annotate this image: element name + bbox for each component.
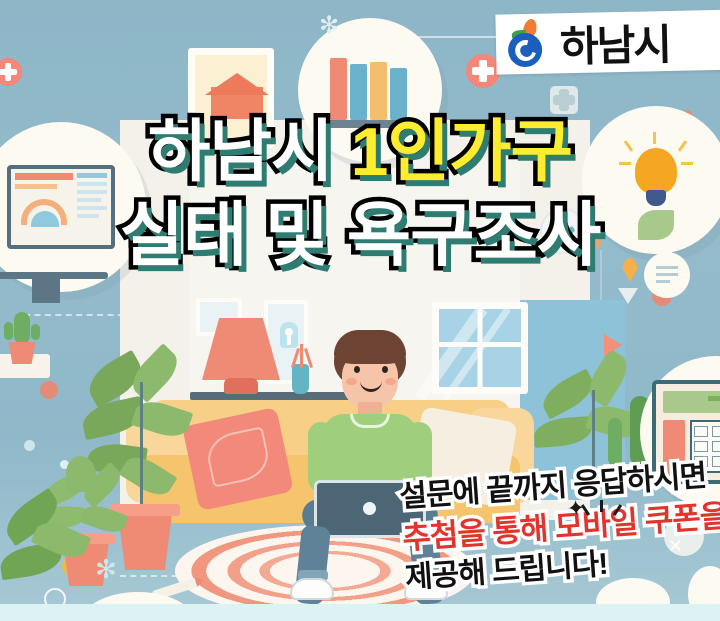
puzzle-icon bbox=[550, 86, 578, 114]
laptop-icon-bubble bbox=[0, 122, 146, 292]
medical-cross-icon bbox=[466, 54, 500, 88]
snowflake-icon-2: ✻ bbox=[316, 14, 342, 40]
bottom-strip bbox=[0, 604, 720, 621]
document-lines-icon bbox=[644, 252, 690, 298]
eye-left bbox=[354, 366, 360, 373]
arrow-icon bbox=[604, 334, 622, 356]
calculator-icon-bubble bbox=[640, 356, 720, 508]
burst-lines-icon bbox=[580, 500, 630, 522]
shoe-right bbox=[404, 578, 448, 600]
survey-poster: ✻ ✻ ✕ 하남시1인가구 실태 및 욕구조사 설문에 끝까지 응답하시면 추첨… bbox=[0, 0, 720, 621]
window bbox=[432, 302, 528, 394]
calculator-icon bbox=[652, 380, 720, 484]
cheek-right bbox=[385, 378, 396, 385]
snowflake-icon: ✻ bbox=[92, 556, 120, 584]
heart-badge-icon bbox=[540, 208, 586, 254]
laptop-monitor-icon bbox=[7, 165, 115, 249]
picture-frame-house bbox=[188, 48, 274, 148]
cactus-plant bbox=[2, 312, 42, 356]
hanam-city-logo: 하남시 bbox=[495, 9, 720, 74]
sparkle-x-icon: ✕ bbox=[668, 536, 683, 557]
hanam-city-emblem-icon bbox=[506, 20, 553, 67]
person-with-laptop bbox=[300, 330, 440, 600]
hanam-city-logo-text: 하남시 bbox=[559, 10, 670, 73]
lightbulb-icon-bubble bbox=[582, 106, 720, 254]
shoe-left bbox=[290, 578, 334, 600]
leafy-plant-bottom-left bbox=[0, 500, 90, 620]
books-binders-icon bbox=[330, 52, 410, 128]
laptop bbox=[314, 480, 426, 538]
lightbulb-icon bbox=[625, 140, 687, 220]
hair-front bbox=[334, 330, 406, 364]
table-lamp-base bbox=[224, 378, 258, 394]
eye-right bbox=[382, 366, 388, 373]
cheek-left bbox=[346, 378, 357, 385]
